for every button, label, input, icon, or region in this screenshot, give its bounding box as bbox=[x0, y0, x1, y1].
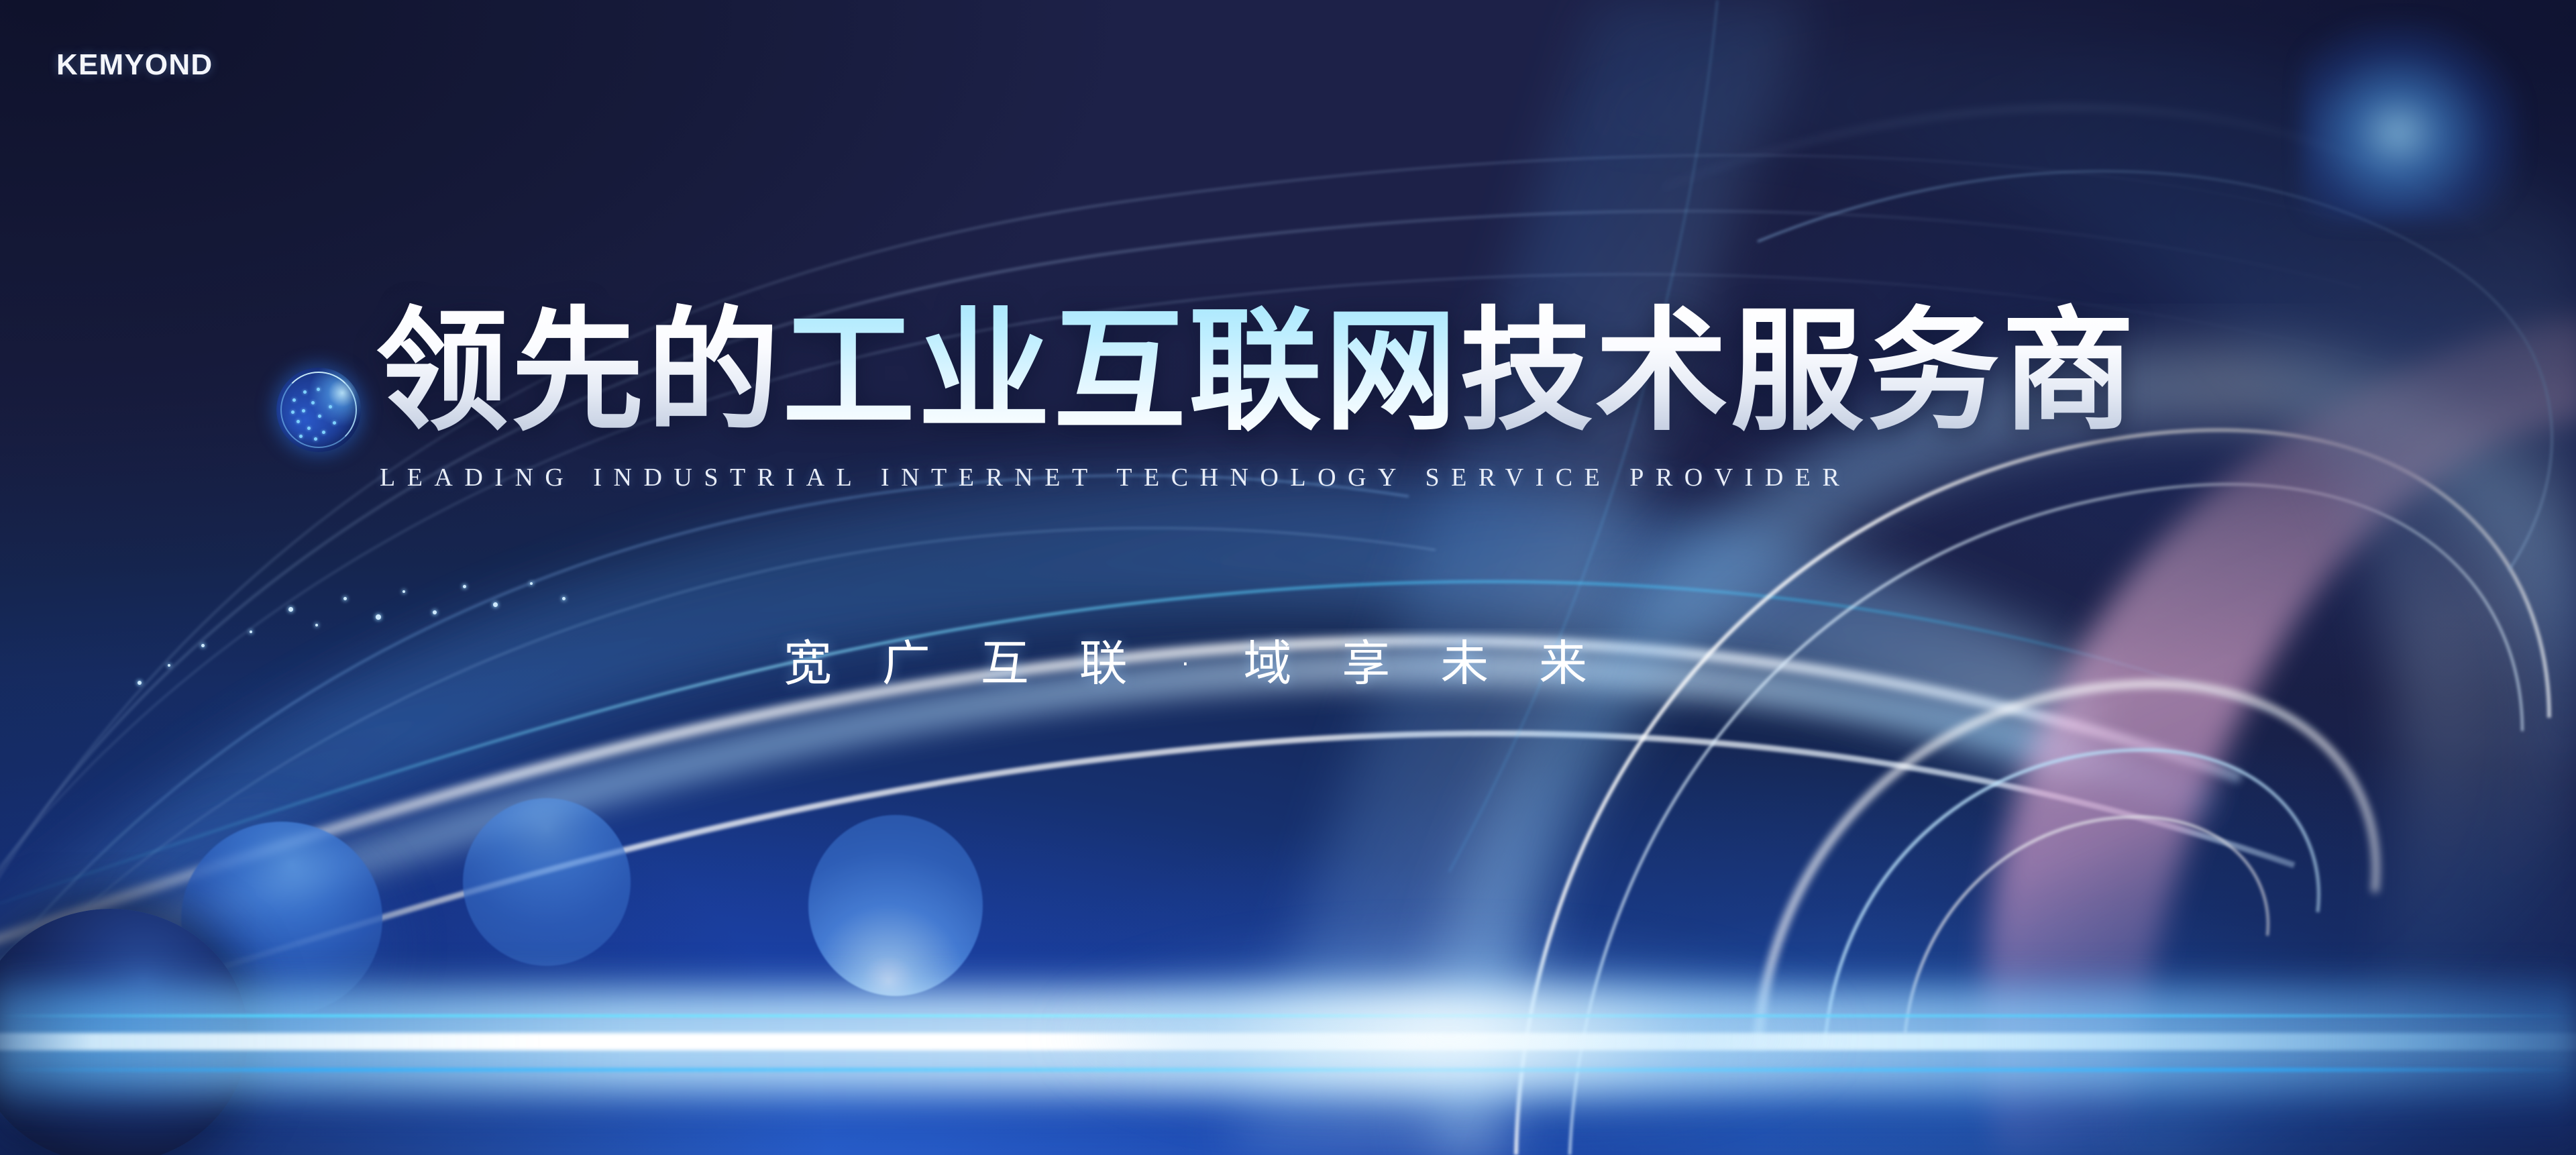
page-tagline: 宽 广 互 联 · 域 享 未 来 bbox=[784, 624, 1605, 694]
headline-part-2-accent: 工业互联网 bbox=[782, 294, 1460, 449]
light-hotspot bbox=[1060, 939, 1838, 1113]
brand-logo[interactable]: KEMYOND bbox=[56, 48, 213, 82]
headline-part-3: 技术服务商 bbox=[1460, 294, 2137, 449]
globe-dot-texture bbox=[276, 368, 361, 452]
page-title: 领先的工业互联网技术服务商 bbox=[376, 305, 2254, 438]
banner-canvas: KEMYOND 领先的工业互联网技术服务商 LEADING INDUSTRIAL… bbox=[0, 0, 2576, 1155]
page-subtitle: LEADING INDUSTRIAL INTERNET TECHNOLOGY S… bbox=[380, 463, 1851, 492]
sphere-decor-3 bbox=[463, 798, 631, 966]
globe-sphere-icon bbox=[276, 368, 361, 452]
glow-orb-top-right bbox=[2301, 20, 2522, 221]
headline-part-1: 领先的 bbox=[376, 294, 782, 449]
